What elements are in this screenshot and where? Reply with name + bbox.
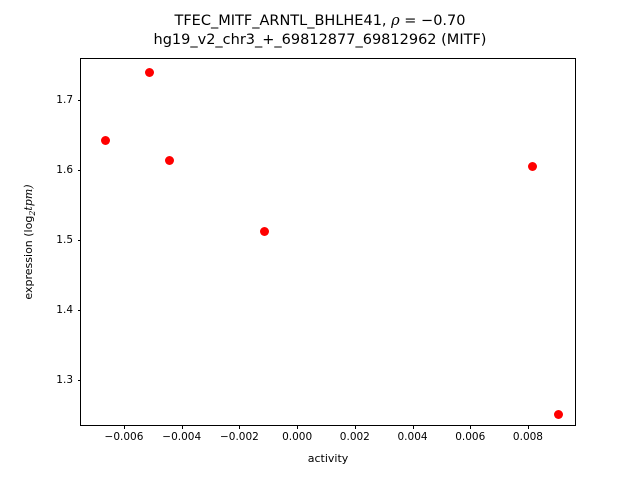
x-axis-tick <box>470 425 471 429</box>
x-axis-tick-label: −0.002 <box>220 431 259 443</box>
y-axis-label-text: expression (log <box>22 216 35 300</box>
x-axis-tick-label: 0.008 <box>513 431 543 443</box>
rho-symbol: ρ <box>391 13 400 29</box>
scatter-point <box>528 162 537 171</box>
y-axis-tick-label: 1.5 <box>56 234 73 246</box>
x-axis-tick <box>528 425 529 429</box>
y-axis-label: expression (log2tpm) <box>22 58 36 426</box>
y-axis-tick-label: 1.4 <box>56 304 73 316</box>
plot-area: −0.006−0.004−0.0020.0000.0020.0040.0060.… <box>81 59 575 425</box>
chart-title-line-2: hg19_v2_chr3_+_69812877_69812962 (MITF) <box>0 31 640 50</box>
chart-title-line-1: TFEC_MITF_ARNTL_BHLHE41, ρ = −0.70 <box>0 12 640 31</box>
chart-title-prefix: TFEC_MITF_ARNTL_BHLHE41, <box>174 13 391 29</box>
scatter-plot-figure: TFEC_MITF_ARNTL_BHLHE41, ρ = −0.70 hg19_… <box>0 0 640 480</box>
y-axis-tick <box>78 310 82 311</box>
scatter-point <box>165 156 174 165</box>
x-axis-tick-label: 0.002 <box>340 431 370 443</box>
y-axis-label-sub: 2 <box>22 211 35 216</box>
x-axis-tick-label: −0.006 <box>105 431 144 443</box>
scatter-point <box>145 68 154 77</box>
x-axis-tick-label: 0.006 <box>455 431 485 443</box>
chart-title: TFEC_MITF_ARNTL_BHLHE41, ρ = −0.70 hg19_… <box>0 12 640 50</box>
scatter-point <box>101 136 110 145</box>
plot-axes: −0.006−0.004−0.0020.0000.0020.0040.0060.… <box>80 58 576 426</box>
x-axis-tick-label: 0.000 <box>282 431 312 443</box>
y-axis-tick-label: 1.7 <box>56 94 73 106</box>
x-axis-tick <box>124 425 125 429</box>
y-axis-tick <box>78 170 82 171</box>
x-axis-tick-label: −0.004 <box>162 431 201 443</box>
y-axis-tick <box>78 380 82 381</box>
y-axis-tick <box>78 100 82 101</box>
x-axis-tick <box>297 425 298 429</box>
scatter-point <box>554 410 563 419</box>
x-axis-tick <box>413 425 414 429</box>
y-axis-label-tail: tpm) <box>22 184 35 210</box>
x-axis-label: activity <box>80 452 576 465</box>
x-axis-tick <box>355 425 356 429</box>
scatter-point <box>260 227 269 236</box>
rho-value: = −0.70 <box>400 13 466 29</box>
y-axis-tick-label: 1.3 <box>56 374 73 386</box>
x-axis-tick <box>239 425 240 429</box>
y-axis-tick <box>78 240 82 241</box>
y-axis-tick-label: 1.6 <box>56 164 73 176</box>
x-axis-tick-label: 0.004 <box>398 431 428 443</box>
x-axis-tick <box>182 425 183 429</box>
